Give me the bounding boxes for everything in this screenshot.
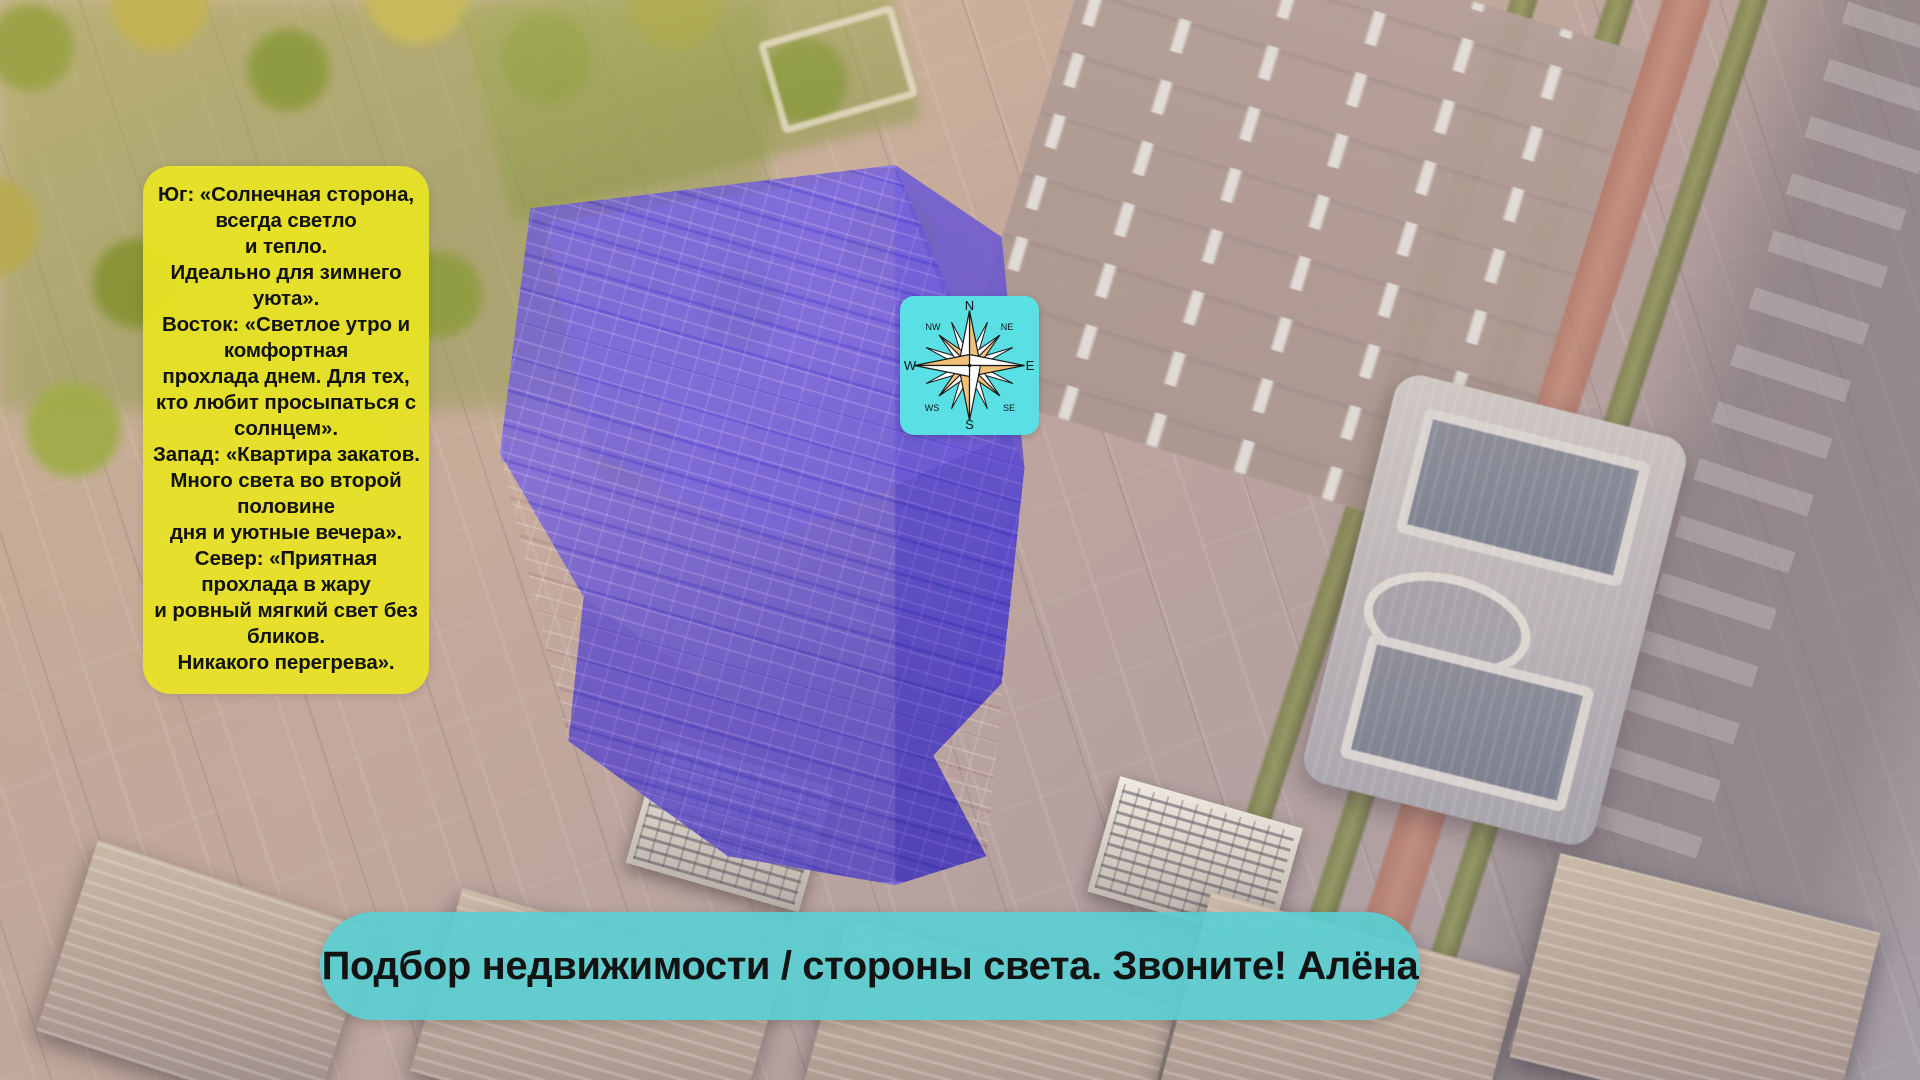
card-line: всегда светло <box>153 208 419 234</box>
card-line: Юг: «Солнечная сторона, <box>153 182 419 208</box>
compass-label-ws: WS <box>925 403 940 413</box>
card-line: прохлада в жару <box>153 572 419 598</box>
card-line: Идеально для зимнего <box>153 260 419 286</box>
compass-rose-widget: N NE E SE S WS W NW <box>900 296 1039 435</box>
card-line: Никакого перегрева». <box>153 650 419 676</box>
poster-canvas: Юг: «Солнечная сторона, всегда светло и … <box>0 0 1920 1080</box>
card-line: Восток: «Светлое утро и <box>153 312 419 338</box>
compass-label-nw: NW <box>926 322 941 332</box>
card-line: кто любит просыпаться с <box>153 390 419 416</box>
card-line: Запад: «Квартира закатов. <box>153 442 419 468</box>
card-line: половине <box>153 494 419 520</box>
card-line: Север: «Приятная <box>153 546 419 572</box>
compass-label-ne: NE <box>1001 322 1014 332</box>
compass-label-e: E <box>1026 358 1035 373</box>
building-outline <box>500 165 1260 885</box>
cta-banner[interactable]: Подбор недвижимости / стороны света. Зво… <box>320 912 1420 1020</box>
cta-banner-text: Подбор недвижимости / стороны света. Зво… <box>322 944 1419 989</box>
compass-label-w: W <box>904 358 917 373</box>
card-line: и тепло. <box>153 234 419 260</box>
compass-label-se: SE <box>1003 403 1015 413</box>
highlighted-building-overlay <box>500 165 1260 885</box>
card-line: комфортная <box>153 338 419 364</box>
card-line: бликов. <box>153 624 419 650</box>
card-line: уюта». <box>153 286 419 312</box>
card-line: солнцем». <box>153 416 419 442</box>
card-line: и ровный мягкий свет без <box>153 598 419 624</box>
card-line: Много света во второй <box>153 468 419 494</box>
card-line: дня и уютные вечера». <box>153 520 419 546</box>
card-line: прохлада днем. Для тех, <box>153 364 419 390</box>
compass-rose-icon: N NE E SE S WS W NW <box>900 296 1039 435</box>
compass-label-s: S <box>965 417 974 432</box>
compass-label-n: N <box>965 298 974 313</box>
orientation-info-card: Юг: «Солнечная сторона, всегда светло и … <box>143 166 429 694</box>
